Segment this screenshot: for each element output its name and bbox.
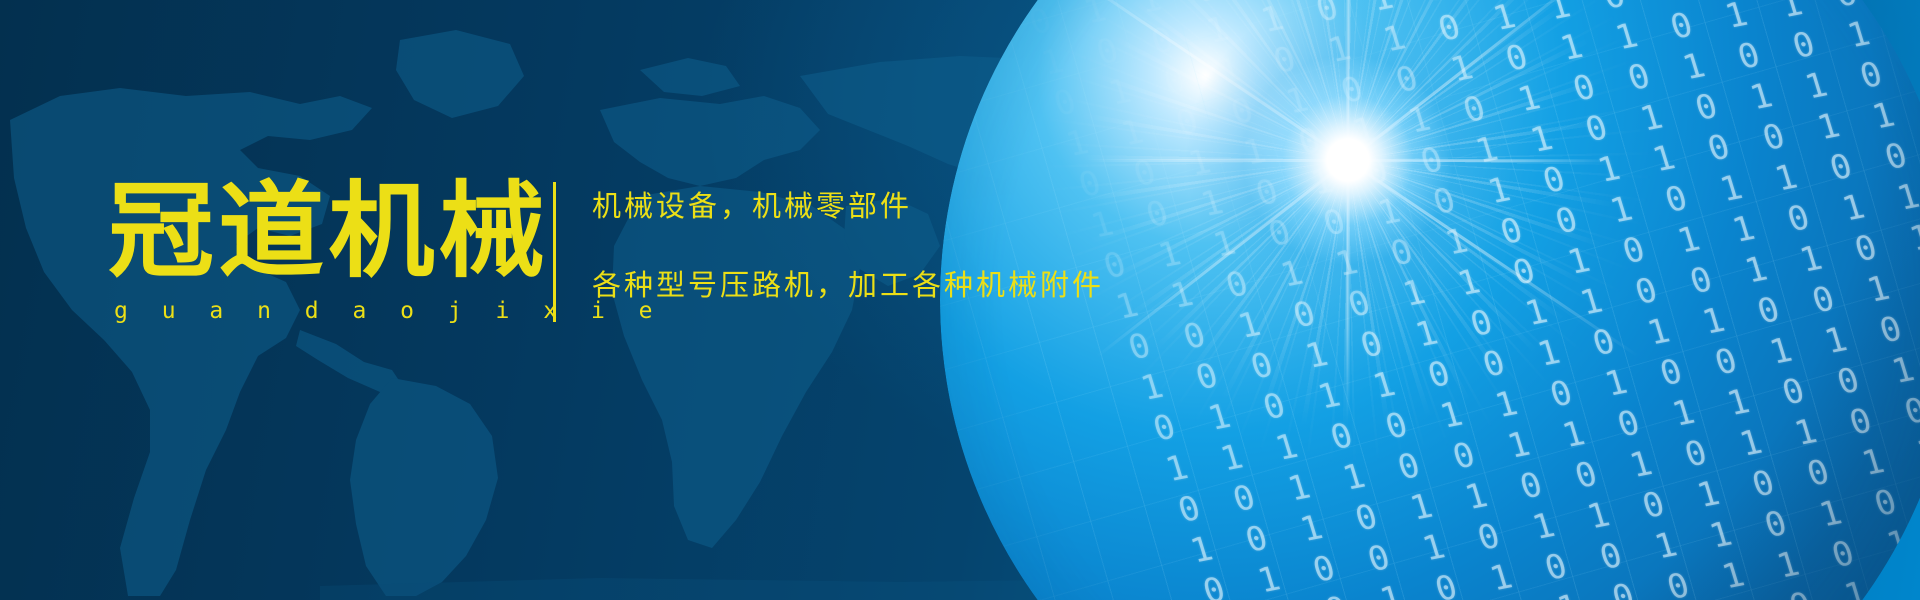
promo-banner: 0 1 0 0 1 1 0 1 0 0 1 0 1 1 0 0 1 0 1 0 … [0, 0, 1920, 600]
slogan-line-1: 机械设备，机械零部件 [592, 192, 1104, 221]
logo-block: 冠道机械 g u a n d a o j i x i e [108, 178, 528, 324]
company-name-cn: 冠道机械 [108, 178, 536, 284]
slogan-line-2: 各种型号压路机，加工各种机械附件 [592, 271, 1104, 300]
vertical-divider [553, 182, 556, 322]
banner-content: 冠道机械 g u a n d a o j i x i e 机械设备，机械零部件 … [0, 0, 1200, 600]
company-name-pinyin: g u a n d a o j i x i e [108, 298, 528, 324]
slogan-list: 机械设备，机械零部件 各种型号压路机，加工各种机械附件 [592, 192, 1104, 300]
